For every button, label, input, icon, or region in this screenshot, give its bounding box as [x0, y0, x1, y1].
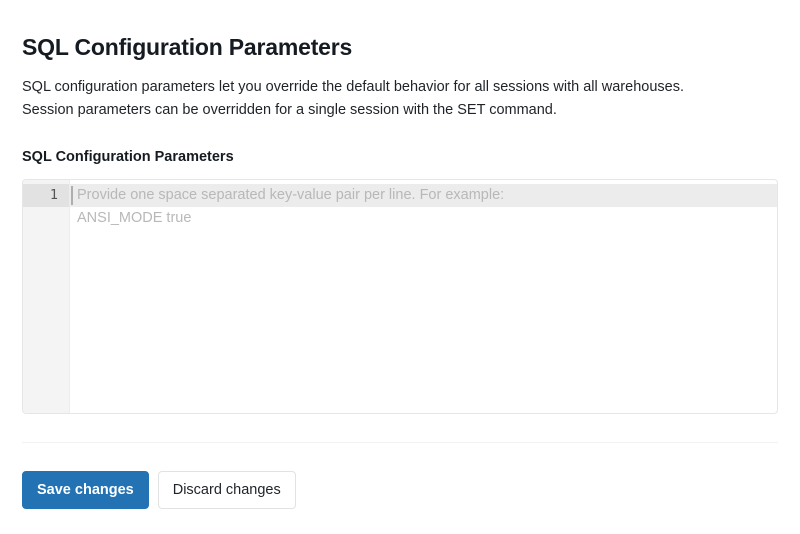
sql-parameters-code-editor[interactable]: 1 Provide one space separated key-value … — [22, 179, 778, 414]
save-changes-button[interactable]: Save changes — [22, 471, 149, 509]
editor-placeholder-line-1: Provide one space separated key-value pa… — [77, 184, 777, 207]
line-number: 1 — [23, 184, 69, 207]
editor-placeholder: Provide one space separated key-value pa… — [70, 184, 777, 230]
page-description-line-1: SQL configuration parameters let you ove… — [22, 76, 762, 99]
sql-configuration-parameters-page: SQL Configuration Parameters SQL configu… — [0, 0, 800, 534]
form-actions: Save changes Discard changes — [22, 443, 778, 509]
page-description-line-2: Session parameters can be overridden for… — [22, 99, 762, 122]
editor-content-area[interactable]: Provide one space separated key-value pa… — [70, 180, 777, 413]
discard-changes-button[interactable]: Discard changes — [158, 471, 296, 509]
sql-configuration-parameters-label: SQL Configuration Parameters — [22, 121, 778, 167]
page-title: SQL Configuration Parameters — [22, 0, 778, 61]
editor-placeholder-line-2: ANSI_MODE true — [77, 207, 777, 230]
editor-line-number-gutter: 1 — [23, 180, 70, 413]
page-description: SQL configuration parameters let you ove… — [22, 61, 762, 121]
